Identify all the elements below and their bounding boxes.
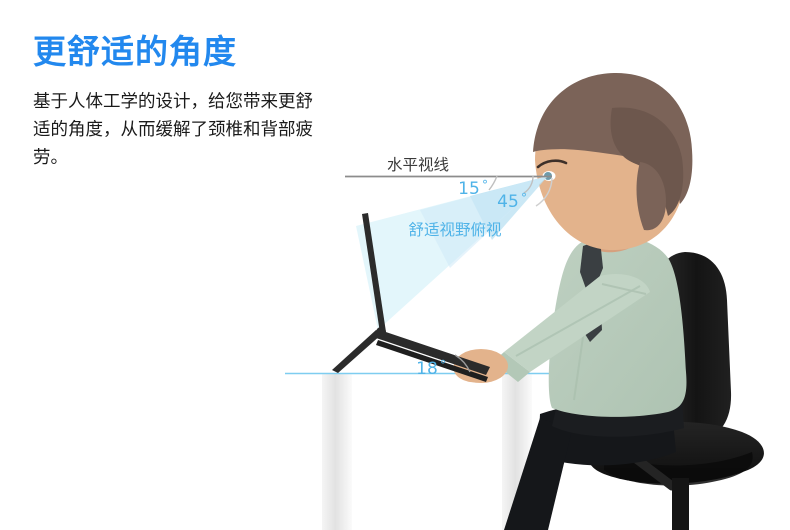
angle-18-degree-symbol: ° [440,358,446,372]
page-description: 基于人体工学的设计，给您带来更舒适的角度，从而缓解了颈椎和背部疲劳。 [33,88,315,172]
horizon-label: 水平视线 [387,156,449,174]
illustration-page: 水平视线 舒适视野俯视 15 ° 45 ° 18 ° 更舒适的角度 基于人体工学… [0,0,790,530]
text-block: 更舒适的角度 基于人体工学的设计，给您带来更舒适的角度，从而缓解了颈椎和背部疲劳… [33,30,333,172]
laptop-stand-leg [332,330,382,373]
angle-45-degree-symbol: ° [521,191,527,205]
arc-15-degrees [489,176,497,190]
desk-leg-left [322,374,352,530]
angle-15-degree-symbol: ° [482,178,488,192]
angle-45-value: 45 [497,192,519,212]
view-cones [356,176,548,330]
angle-18-value: 18 [416,359,438,379]
chair-column [672,478,689,530]
angle-15-value: 15 [458,179,480,199]
comfort-view-label: 舒适视野俯视 [408,221,501,239]
laptop-hinge [376,327,386,337]
label-45-degrees: 45 ° [497,191,527,212]
page-title: 更舒适的角度 [33,30,333,74]
